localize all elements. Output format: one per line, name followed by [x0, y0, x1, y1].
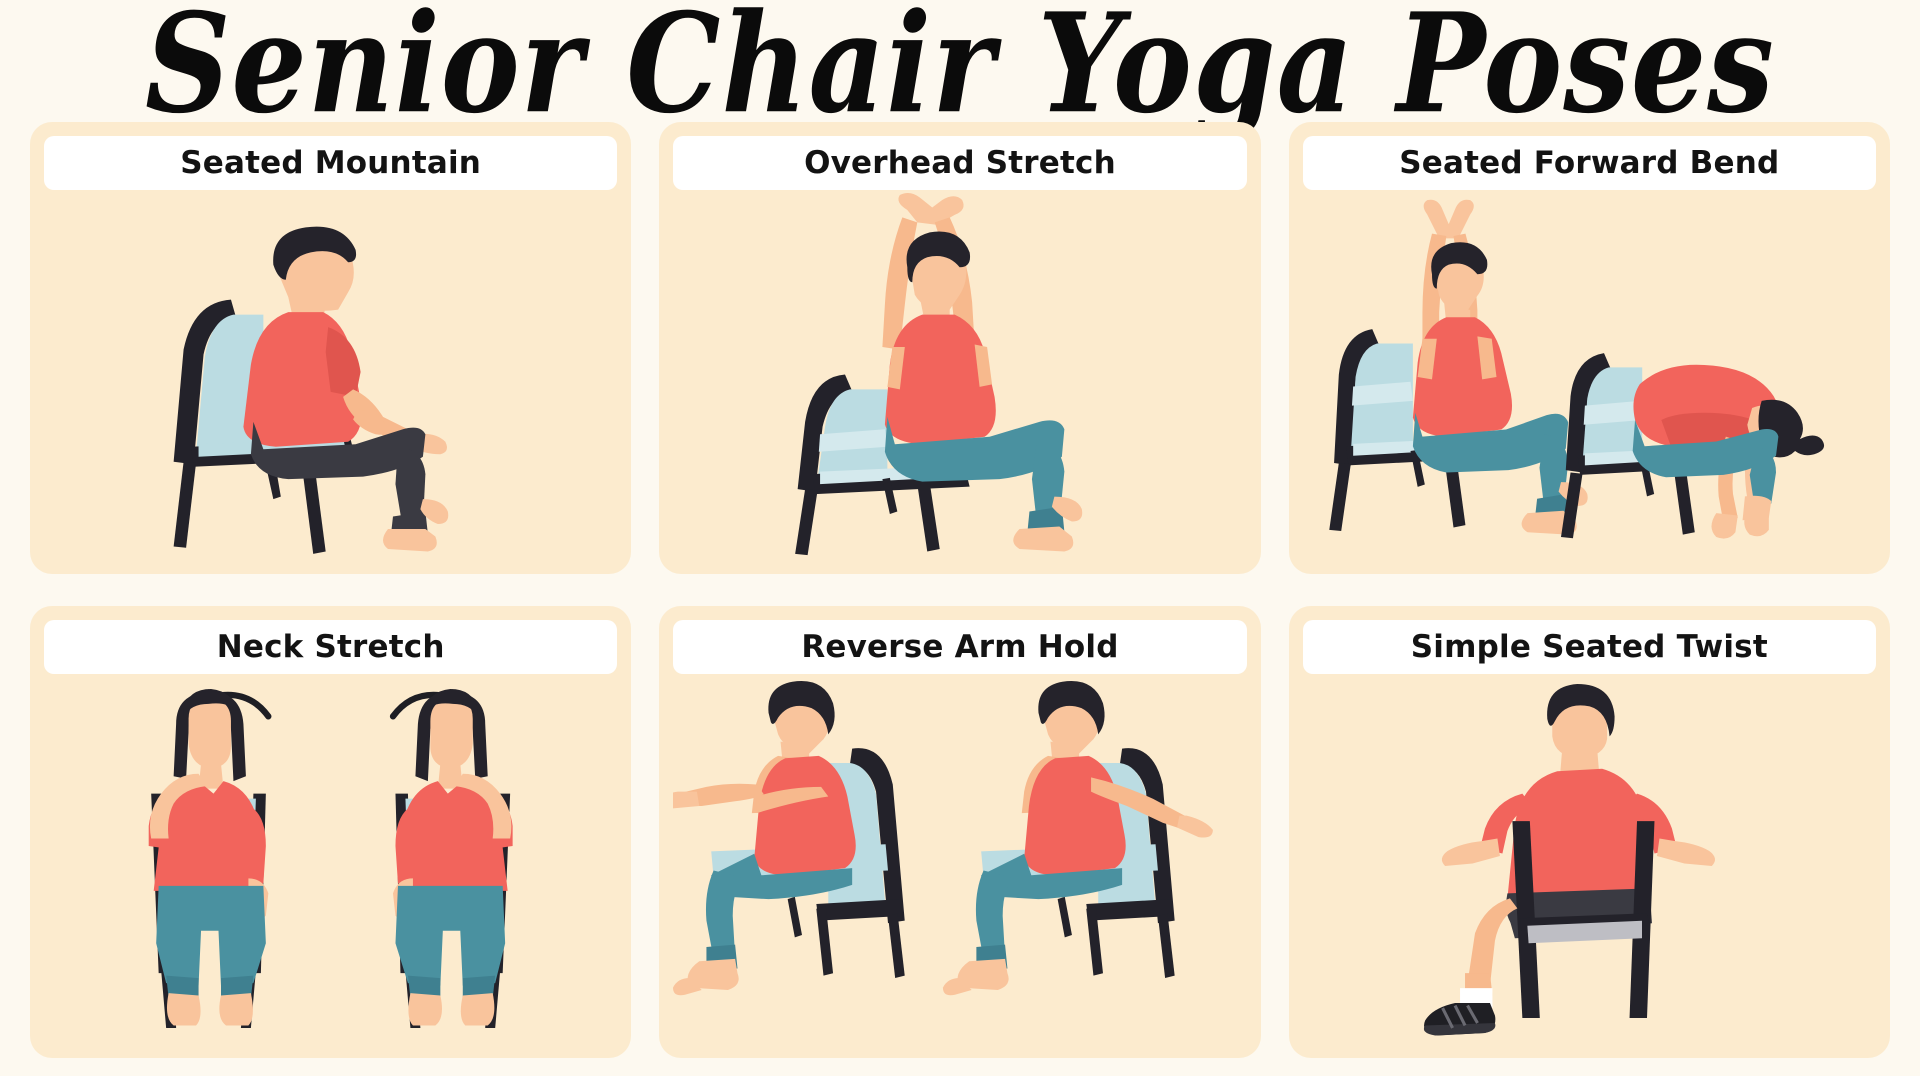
pose-card-neck-stretch[interactable]: Neck Stretch: [30, 606, 631, 1058]
pose-card-grid: Seated Mountain: [0, 122, 1920, 1076]
pose-illustration-overhead-stretch: [673, 190, 1246, 564]
pose-card-seated-mountain[interactable]: Seated Mountain: [30, 122, 631, 574]
pose-label-pill: Seated Mountain: [44, 136, 617, 190]
pose-label-pill: Simple Seated Twist: [1303, 620, 1876, 674]
pose-label-pill: Reverse Arm Hold: [673, 620, 1246, 674]
pose-label-text: Seated Forward Bend: [1399, 145, 1779, 181]
infographic-page: Senior Chair Yoga Poses Seated Mountain: [0, 0, 1920, 1076]
figure-forward-bend-b: [1561, 353, 1824, 539]
figure-forward-bend-a: [1329, 200, 1587, 535]
pose-illustration-simple-seated-twist: [1303, 674, 1876, 1048]
pose-illustration-seated-mountain: [44, 190, 617, 564]
pose-illustration-reverse-arm-hold: [673, 674, 1246, 1048]
pose-label-pill: Overhead Stretch: [673, 136, 1246, 190]
pose-card-overhead-stretch[interactable]: Overhead Stretch: [659, 122, 1260, 574]
figure-neck-stretch-a: [149, 689, 269, 1028]
pose-label-pill: Neck Stretch: [44, 620, 617, 674]
figure-overhead-stretch: [883, 193, 1083, 551]
pose-card-reverse-arm-hold[interactable]: Reverse Arm Hold: [659, 606, 1260, 1058]
pose-card-seated-forward-bend[interactable]: Seated Forward Bend: [1289, 122, 1890, 574]
pose-illustration-seated-forward-bend: [1303, 190, 1876, 564]
pose-label-text: Reverse Arm Hold: [801, 629, 1118, 665]
figure-reverse-arm-b: [943, 681, 1213, 995]
figure-simple-seated-twist: [1424, 684, 1715, 1035]
figure-reverse-arm-a: [673, 681, 905, 995]
pose-card-simple-seated-twist[interactable]: Simple Seated Twist: [1289, 606, 1890, 1058]
pose-label-text: Neck Stretch: [217, 629, 445, 665]
page-title: Senior Chair Yoga Poses: [145, 0, 1775, 132]
pose-label-text: Overhead Stretch: [804, 145, 1116, 181]
figure-neck-stretch-b: [393, 689, 513, 1028]
pose-label-text: Simple Seated Twist: [1411, 629, 1768, 665]
pose-illustration-neck-stretch: [44, 674, 617, 1048]
pose-label-pill: Seated Forward Bend: [1303, 136, 1876, 190]
title-container: Senior Chair Yoga Poses: [0, 0, 1920, 122]
figure-seated-mountain: [243, 227, 448, 552]
pose-label-text: Seated Mountain: [180, 145, 481, 181]
